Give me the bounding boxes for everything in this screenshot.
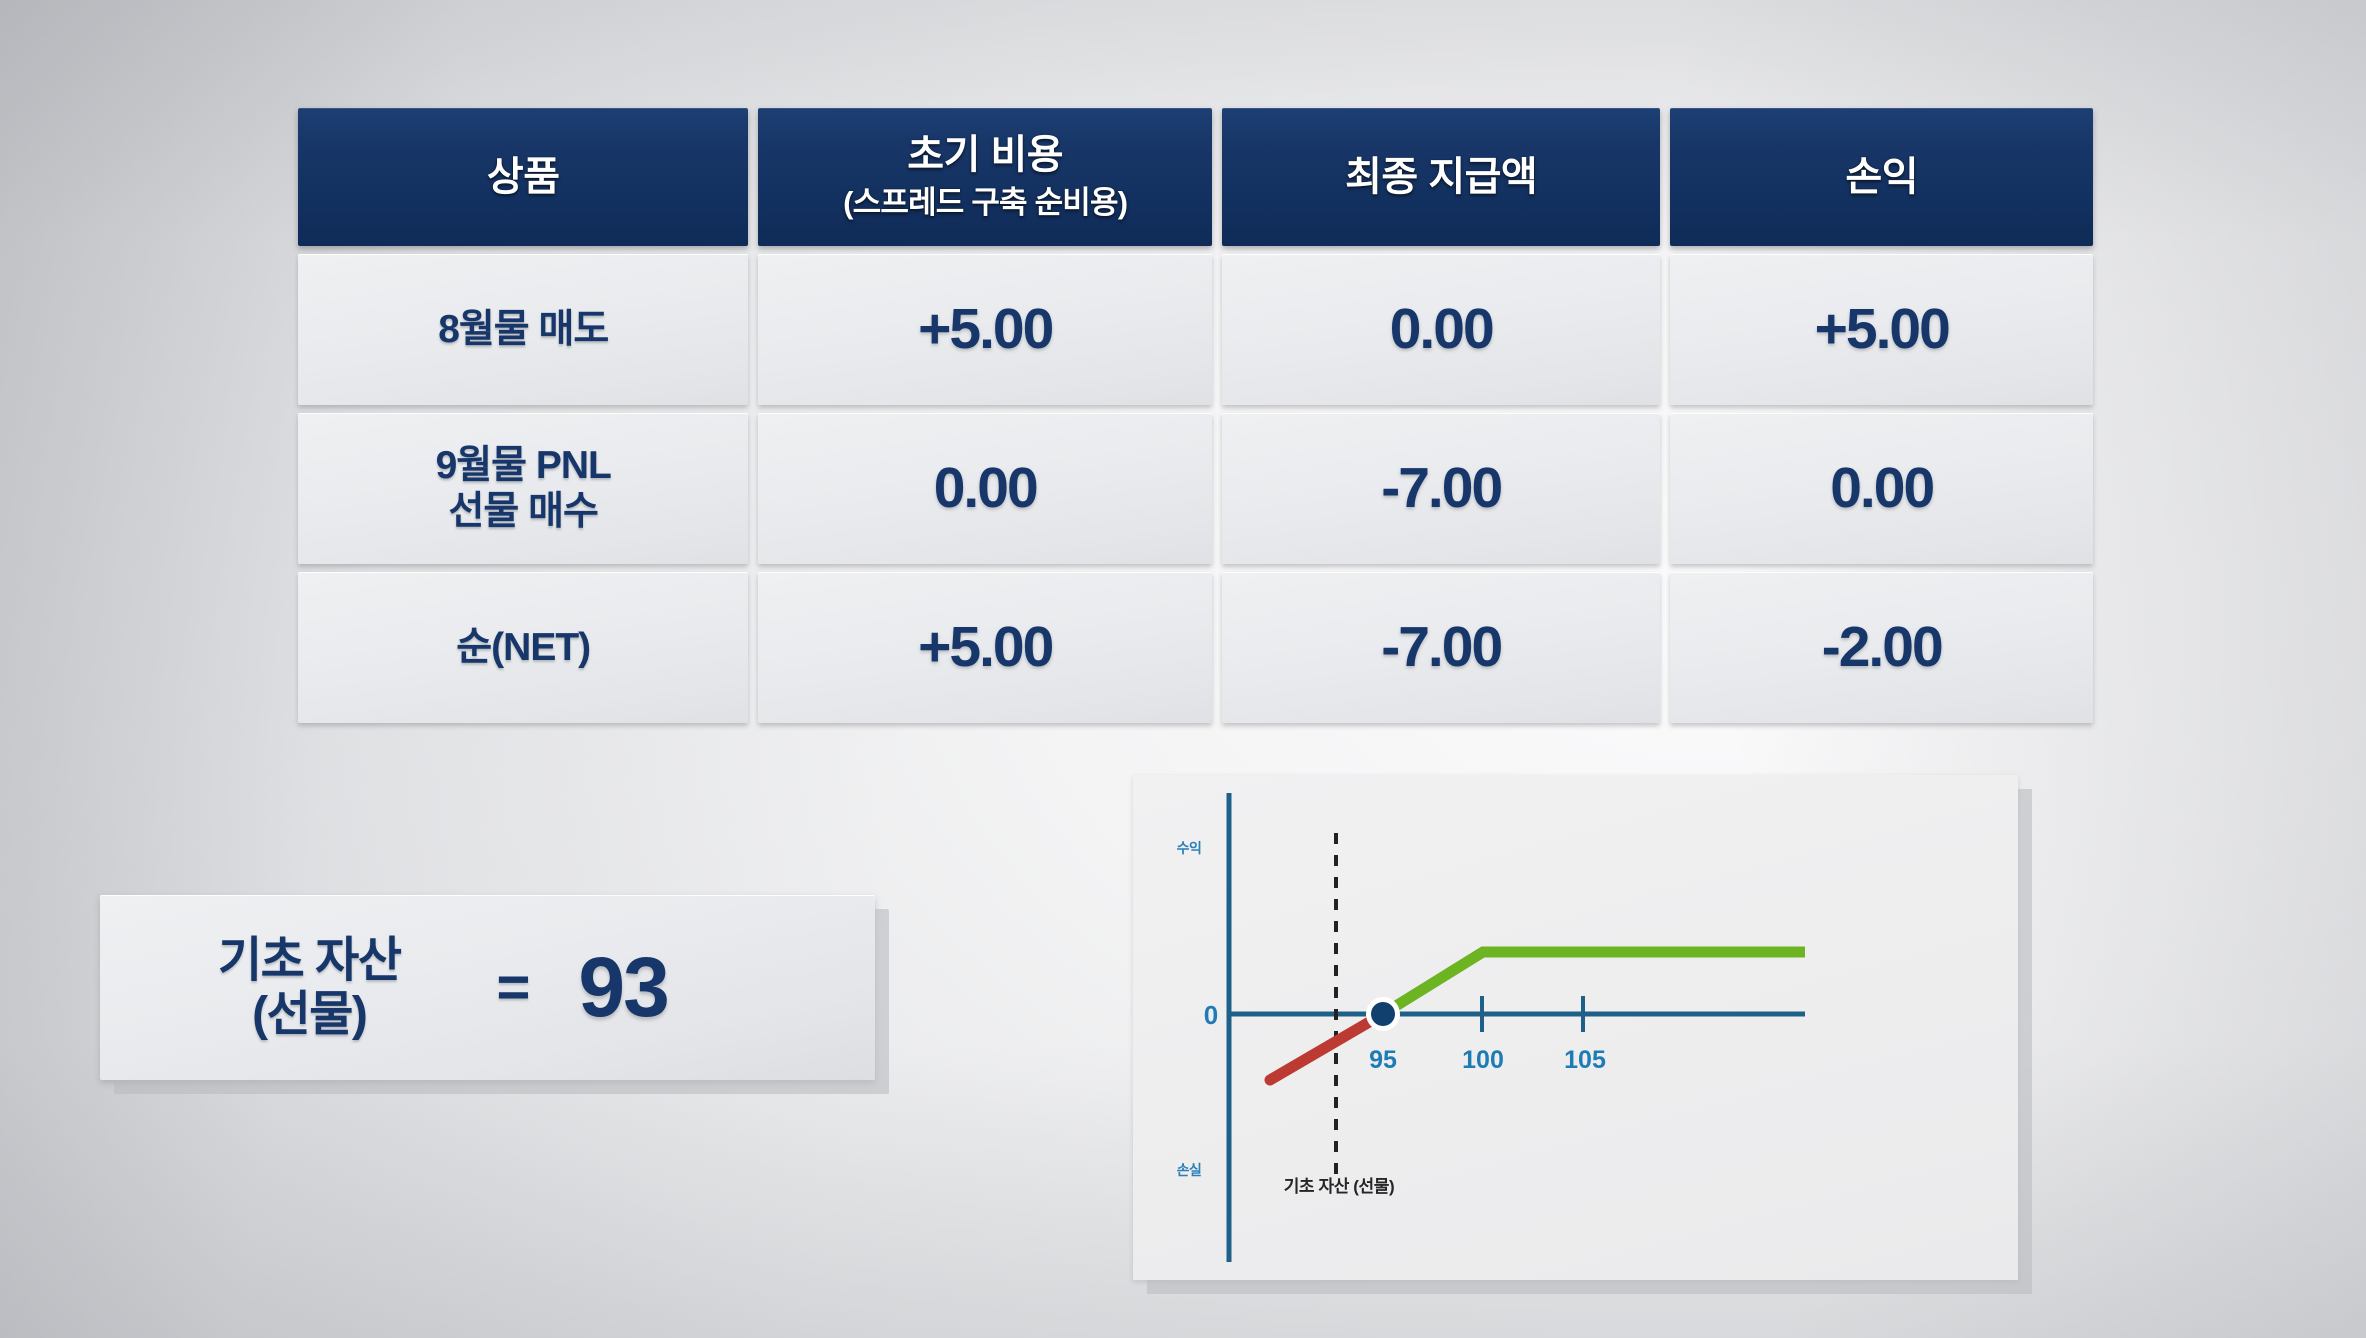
row-1-product-label-line1: 9월물 PNL [436,443,611,489]
underlying-asset-label-line1: 기초 자산 [218,934,400,988]
row-2-product-label: 순(NET) [456,625,590,671]
table-row: 9월물 PNL 선물 매수 0.00 -7.00 0.00 [298,413,2093,564]
row-2-initial-cost: +5.00 [758,572,1211,723]
chart-xlabel: 기초 자산 (선물) [1284,1177,1395,1196]
row-2-pnl: -2.00 [1670,572,2093,723]
row-0-product-label: 8월물 매도 [438,307,608,353]
payoff-chart: 수익 손실 0 95 100 105 기초 자산 (선물) [1133,775,2018,1280]
table-header-final-payout-label: 최종 지급액 [1345,154,1537,201]
row-1-initial-cost: 0.00 [758,413,1211,564]
table-header-product-label: 상품 [487,154,560,201]
row-0-product: 8월물 매도 [298,254,748,405]
row-2-product: 순(NET) [298,572,748,723]
row-1-product: 9월물 PNL 선물 매수 [298,413,748,564]
payoff-table: 상품 초기 비용 (스프레드 구축 순비용) 최종 지급액 손익 8월물 매도 … [298,108,2093,731]
table-header-final-payout: 최종 지급액 [1222,108,1661,246]
underlying-asset-value: 93 [578,939,667,1036]
underlying-asset-label-line2: (선물) [218,988,400,1042]
underlying-asset-box: 기초 자산 (선물) = 93 [100,895,875,1080]
table-header-initial-cost: 초기 비용 (스프레드 구축 순비용) [758,108,1211,246]
payoff-chart-panel: 수익 손실 0 95 100 105 기초 자산 (선물) [1133,775,2018,1280]
table-header-row: 상품 초기 비용 (스프레드 구축 순비용) 최종 지급액 손익 [298,108,2093,246]
underlying-asset-label: 기초 자산 (선물) [218,934,400,1042]
row-1-product-label-line2: 선물 매수 [436,489,611,535]
chart-xtick-label-105: 105 [1564,1046,1606,1074]
row-0-pnl: +5.00 [1670,254,2093,405]
chart-loss-line [1270,1014,1383,1080]
chart-xtick-label-100: 100 [1462,1046,1504,1074]
chart-breakeven-marker [1371,1002,1395,1026]
table-header-product: 상품 [298,108,748,246]
table-header-initial-cost-sublabel: (스프레드 구축 순비용) [843,185,1127,221]
row-0-final-payout: 0.00 [1222,254,1661,405]
chart-profit-line [1383,952,1805,1014]
row-1-pnl: 0.00 [1670,413,2093,564]
row-0-initial-cost: +5.00 [758,254,1211,405]
chart-ylabel-loss: 손실 [1177,1162,1202,1178]
chart-ylabel-profit: 수익 [1177,840,1202,856]
table-header-initial-cost-label: 초기 비용 [907,133,1063,177]
table-header-pnl-label: 손익 [1845,154,1918,201]
row-1-final-payout: -7.00 [1222,413,1661,564]
row-2-final-payout: -7.00 [1222,572,1661,723]
chart-xtick-label-95: 95 [1369,1046,1397,1074]
table-row: 8월물 매도 +5.00 0.00 +5.00 [298,254,2093,405]
table-row: 순(NET) +5.00 -7.00 -2.00 [298,572,2093,723]
chart-zero-label: 0 [1204,1000,1218,1030]
table-header-pnl: 손익 [1670,108,2093,246]
equals-sign: = [496,954,530,1021]
